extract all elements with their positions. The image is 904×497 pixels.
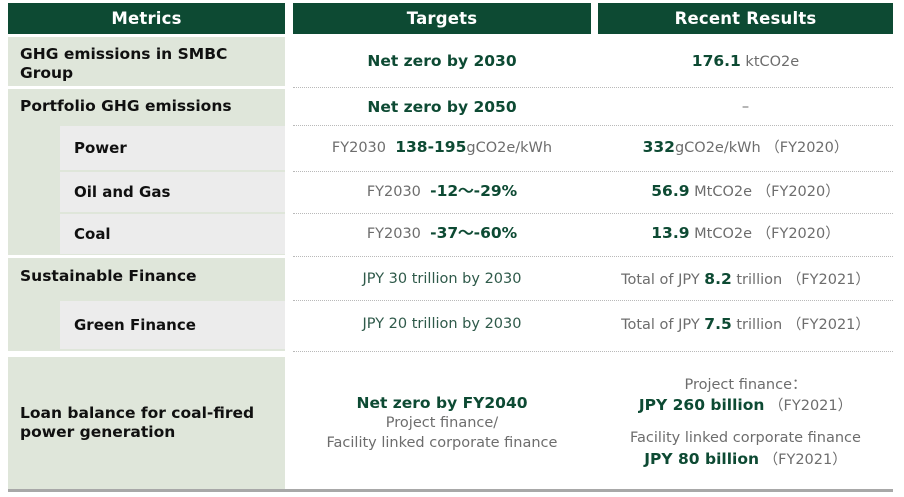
result-year-green-finance: （FY2021） (787, 317, 870, 333)
metric-label-power: Power (74, 139, 127, 157)
metric-cell-ghg-emissions-smbc-group: GHG emissions in SMBC Group (8, 37, 285, 86)
row-separator-4 (293, 213, 893, 214)
row-separator-2 (293, 125, 893, 126)
target-prefix-power: FY2030 (332, 140, 386, 156)
metric-label-oil-and-gas: Oil and Gas (74, 183, 170, 201)
result-cell-green-finance: Total of JPY 7.5 trillion （FY2021） (598, 301, 893, 349)
result-unit-green-finance: trillion (736, 317, 782, 333)
row-separator-6 (293, 300, 893, 301)
result-year-sustainable-finance: （FY2021） (787, 272, 870, 288)
result-value-facility-linked-corporate-finance: JPY 80 billion (644, 450, 759, 468)
result-label-facility-linked-corporate-finance: Facility linked corporate finance (630, 430, 861, 446)
row-separator-3 (293, 171, 893, 172)
result-unit-power: gCO2e/kWh (675, 140, 761, 156)
target-subnote-line1-loan-balance: Project finance/ (386, 415, 498, 431)
metric-label-ghg-emissions-smbc-group: GHG emissions in SMBC Group (20, 45, 277, 84)
metric-label-sustainable-finance: Sustainable Finance (20, 267, 277, 286)
target-prefix-oil-and-gas: FY2030 (367, 184, 421, 200)
result-value-power: 332 (643, 138, 675, 156)
target-cell-oil-and-gas: FY2030 -12～-29% (293, 172, 591, 212)
result-unit-coal: MtCO2e (694, 226, 752, 242)
row-separator-1 (293, 87, 893, 88)
column-header-metrics-label: Metrics (111, 9, 181, 28)
result-value-portfolio-ghg-emissions: – (742, 99, 749, 115)
result-cell-ghg-emissions-smbc-group: 176.1 ktCO2e (598, 37, 893, 86)
target-value-power: 138-195 (395, 138, 466, 156)
row-separator-5 (293, 256, 893, 257)
result-year-coal: （FY2020） (757, 226, 840, 242)
result-value-coal: 13.9 (651, 224, 689, 242)
target-cell-coal: FY2030 -37～-60% (293, 214, 591, 254)
result-cell-loan-balance-coal-fired: Project finance： JPY 260 billion （FY2021… (598, 357, 893, 489)
column-header-recent-results: Recent Results (598, 3, 893, 34)
result-cell-sustainable-finance: Total of JPY 8.2 trillion （FY2021） (598, 258, 893, 301)
result-cell-oil-and-gas: 56.9 MtCO2e （FY2020） (598, 172, 893, 212)
target-value-ghg-emissions-smbc-group: Net zero by 2030 (367, 52, 516, 70)
metric-cell-green-finance: Green Finance (60, 301, 285, 349)
row-separator-7 (293, 351, 893, 352)
target-subnote-line2-loan-balance: Facility linked corporate finance (327, 435, 558, 451)
result-prefix-sustainable-finance: Total of JPY (621, 272, 700, 288)
result-value-ghg-emissions-smbc-group: 176.1 (692, 52, 741, 70)
result-year-oil-and-gas: （FY2020） (757, 184, 840, 200)
result-year-power: （FY2020） (765, 140, 848, 156)
result-unit-sustainable-finance: trillion (736, 272, 782, 288)
result-value-oil-and-gas: 56.9 (651, 182, 689, 200)
target-cell-loan-balance-coal-fired: Net zero by FY2040 Project finance/ Faci… (293, 357, 591, 489)
metric-cell-coal: Coal (60, 214, 285, 254)
metric-cell-power: Power (60, 126, 285, 170)
target-cell-sustainable-finance: JPY 30 trillion by 2030 (293, 258, 591, 301)
metric-label-coal: Coal (74, 225, 111, 243)
result-label-project-finance: Project finance： (684, 377, 806, 393)
metric-cell-loan-balance-coal-fired: Loan balance for coal-fired power genera… (8, 357, 285, 489)
result-year-project-finance: （FY2021） (769, 398, 852, 414)
metric-label-loan-balance-coal-fired: Loan balance for coal-fired power genera… (20, 404, 277, 443)
target-value-oil-and-gas: -12～-29% (430, 182, 517, 200)
metric-label-green-finance: Green Finance (74, 316, 196, 334)
result-cell-portfolio-ghg-emissions: – (598, 89, 893, 126)
target-cell-ghg-emissions-smbc-group: Net zero by 2030 (293, 37, 591, 86)
result-prefix-green-finance: Total of JPY (621, 317, 700, 333)
result-value-sustainable-finance: 8.2 (704, 270, 731, 288)
target-prefix-coal: FY2030 (367, 226, 421, 242)
result-cell-coal: 13.9 MtCO2e （FY2020） (598, 214, 893, 254)
target-value-sustainable-finance: JPY 30 trillion by 2030 (363, 271, 522, 287)
metric-label-portfolio-ghg-emissions: Portfolio GHG emissions (20, 97, 277, 116)
column-header-targets: Targets (293, 3, 591, 34)
target-value-coal: -37～-60% (430, 224, 517, 242)
target-cell-portfolio-ghg-emissions: Net zero by 2050 (293, 89, 591, 126)
result-unit-oil-and-gas: MtCO2e (694, 184, 752, 200)
result-value-green-finance: 7.5 (704, 315, 731, 333)
table-bottom-rule (8, 489, 893, 492)
result-value-project-finance: JPY 260 billion (639, 396, 765, 414)
target-cell-green-finance: JPY 20 trillion by 2030 (293, 301, 591, 349)
metric-cell-oil-and-gas: Oil and Gas (60, 172, 285, 212)
column-header-recent-results-label: Recent Results (675, 9, 817, 28)
sustainability-targets-table: Metrics Targets Recent Results GHG emiss… (0, 0, 904, 497)
target-value-green-finance: JPY 20 trillion by 2030 (363, 316, 522, 332)
result-cell-power: 332gCO2e/kWh （FY2020） (598, 126, 893, 170)
target-unit-power: gCO2e/kWh (466, 140, 552, 156)
target-value-portfolio-ghg-emissions: Net zero by 2050 (367, 98, 516, 116)
result-year-facility-linked-corporate-finance: （FY2021） (764, 452, 847, 468)
column-header-metrics: Metrics (8, 3, 285, 34)
column-header-targets-label: Targets (407, 9, 478, 28)
result-unit-ghg-emissions-smbc-group: ktCO2e (745, 54, 799, 70)
target-value-loan-balance-coal-fired: Net zero by FY2040 (356, 394, 527, 412)
target-cell-power: FY2030 138-195gCO2e/kWh (293, 126, 591, 170)
